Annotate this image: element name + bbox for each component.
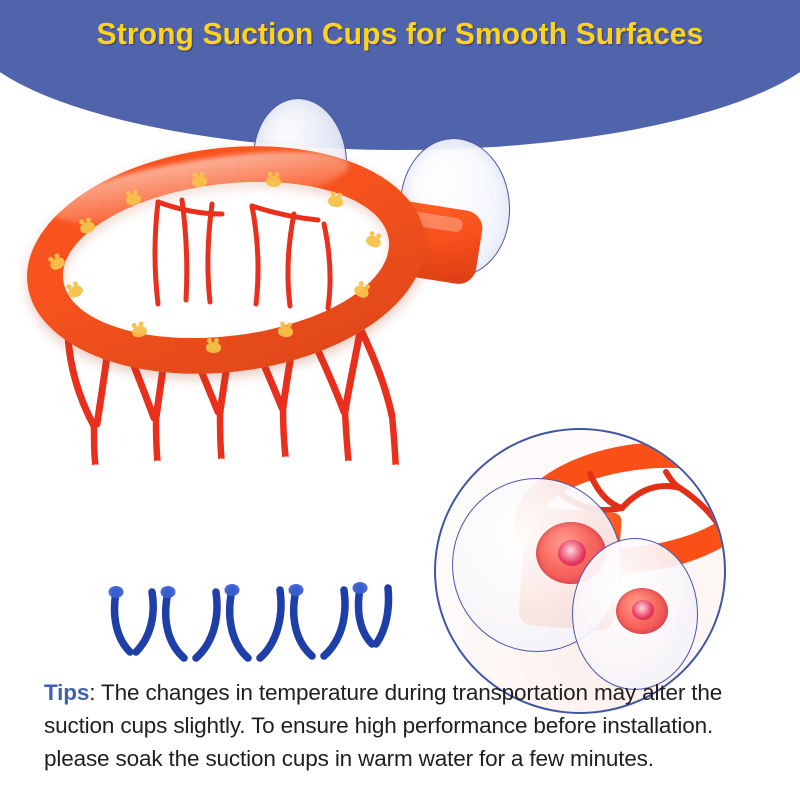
page-title: Strong Suction Cups for Smooth Surfaces	[0, 16, 800, 52]
tips-separator: :	[89, 680, 101, 705]
suction-cup-nub-core	[558, 540, 586, 566]
net-attachment-cords	[62, 184, 402, 354]
suction-cup-nub-core	[632, 600, 654, 620]
suction-cup-detail-inset	[434, 428, 726, 714]
tips-body: The changes in temperature during transp…	[44, 680, 722, 771]
tips-label: Tips	[44, 680, 89, 705]
product-feature-image: Strong Suction Cups for Smooth Surfaces	[0, 0, 800, 800]
product-photo-stage	[0, 90, 800, 670]
tips-paragraph: Tips: The changes in temperature during …	[44, 676, 768, 775]
